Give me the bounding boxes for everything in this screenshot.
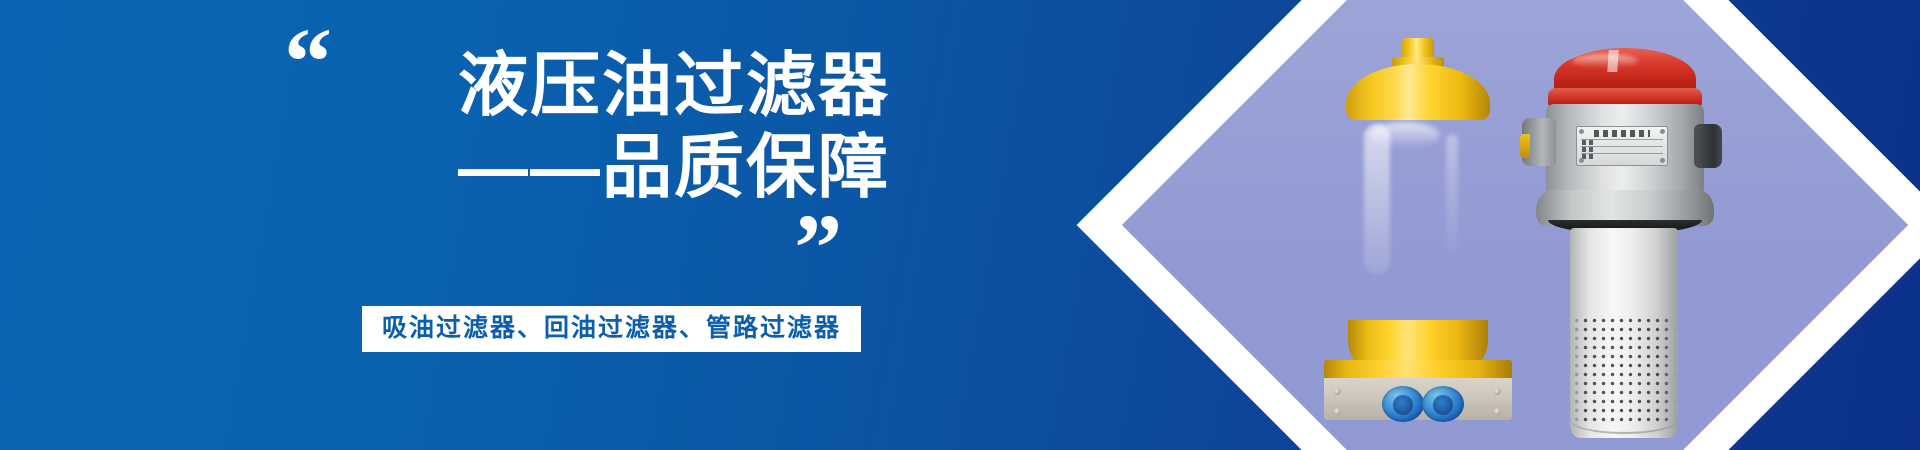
filter-specular-flare bbox=[1370, 122, 1440, 148]
base-plate-screw bbox=[1494, 408, 1501, 415]
filter-port-cap bbox=[1382, 386, 1424, 422]
subtitle-bar: 吸油过滤器、回油过滤器、管路过滤器 bbox=[362, 306, 861, 352]
nameplate-row bbox=[1581, 146, 1663, 153]
base-plate-screw bbox=[1334, 408, 1341, 415]
nameplate-row bbox=[1581, 153, 1663, 160]
subtitle-text: 吸油过滤器、回油过滤器、管路过滤器 bbox=[382, 314, 841, 342]
quote-close-mark: „ bbox=[795, 150, 843, 246]
product-image-yellow-hydraulic-filter bbox=[1318, 38, 1518, 398]
product-nameplate bbox=[1576, 126, 1668, 166]
nameplate-screw bbox=[1579, 129, 1584, 134]
headline-line-1: 液压油过滤器 bbox=[330, 44, 890, 126]
strainer-perforations bbox=[1572, 316, 1676, 426]
base-plate-screw bbox=[1334, 388, 1341, 395]
nameplate-row bbox=[1581, 139, 1663, 146]
filter-highlight-secondary bbox=[1446, 134, 1458, 264]
red-cap-highlight bbox=[1572, 54, 1638, 68]
housing-side-port-right bbox=[1694, 124, 1722, 168]
nameplate-heading bbox=[1594, 130, 1650, 137]
filter-base-collar bbox=[1324, 360, 1512, 380]
nameplate-screw bbox=[1660, 129, 1665, 134]
housing-port-plug bbox=[1520, 134, 1530, 158]
filter-highlight bbox=[1364, 124, 1390, 274]
quote-open-mark: “ bbox=[284, 14, 332, 110]
banner-copy: “ 液压油过滤器 ——品质保障 „ 吸油过滤器、回油过滤器、管路过滤器 bbox=[0, 0, 1060, 450]
nameplate-screw bbox=[1579, 158, 1584, 163]
promo-banner: “ 液压油过滤器 ——品质保障 „ 吸油过滤器、回油过滤器、管路过滤器 bbox=[0, 0, 1920, 450]
product-image-tank-top-return-filter bbox=[1520, 48, 1730, 448]
base-plate-screw bbox=[1494, 388, 1501, 395]
filter-port-cap bbox=[1422, 386, 1464, 422]
nameplate-screw bbox=[1660, 158, 1665, 163]
